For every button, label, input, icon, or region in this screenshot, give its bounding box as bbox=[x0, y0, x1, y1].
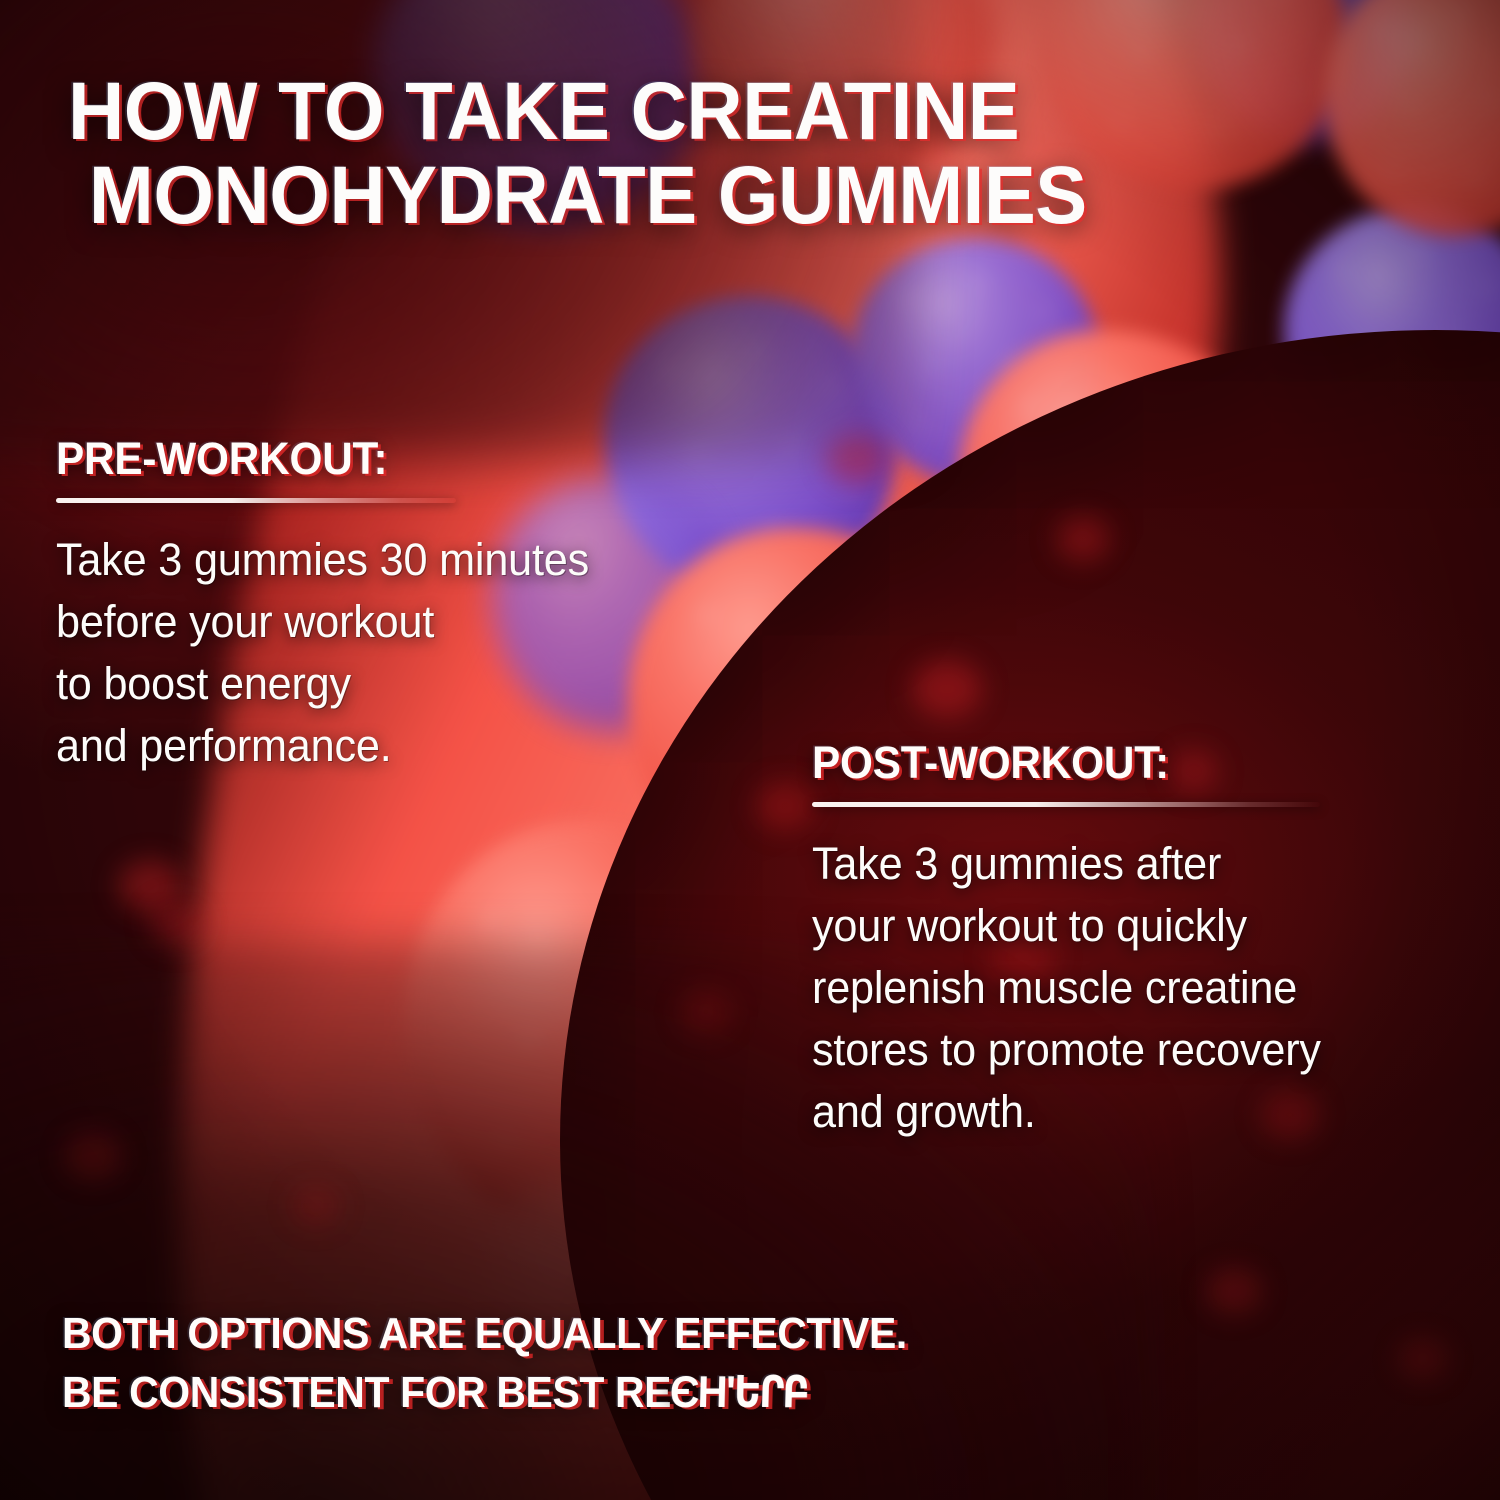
body-line: and performance. bbox=[56, 715, 766, 777]
footer-line-2: BE CONSISTENT FOR BEST REЄΗ'ԵՐԲ bbox=[62, 1364, 1327, 1423]
section-heading-pre-workout: PRE-WORKOUT: bbox=[56, 436, 752, 481]
footer-line-2-prefix: BE CONSISTENT FOR BEST RE bbox=[62, 1368, 671, 1417]
title-line-2: MONOHYDRATE GUMMIES bbox=[68, 154, 1303, 238]
title-line-1: HOW TO TAKE CREATINE bbox=[68, 66, 1019, 157]
section-body-pre-workout: Take 3 gummies 30 minutes before your wo… bbox=[56, 529, 766, 777]
body-line: Take 3 gummies 30 minutes bbox=[56, 529, 766, 591]
section-pre-workout: PRE-WORKOUT: Take 3 gummies 30 minutes b… bbox=[56, 436, 796, 777]
body-line: your workout to quickly bbox=[812, 895, 1446, 957]
page-title: HOW TO TAKE CREATINE MONOHYDRATE GUMMIES bbox=[68, 70, 1303, 237]
footer-callout: BOTH OPTIONS ARE EQUALLY EFFECTIVE. BE C… bbox=[62, 1305, 1327, 1423]
body-line: before your workout bbox=[56, 591, 766, 653]
section-post-workout: POST-WORKOUT: Take 3 gummies after your … bbox=[812, 740, 1472, 1143]
section-heading-post-workout: POST-WORKOUT: bbox=[812, 740, 1432, 785]
footer-line-1: BOTH OPTIONS ARE EQUALLY EFFECTIVE. bbox=[62, 1305, 1327, 1364]
body-line: and growth. bbox=[812, 1081, 1446, 1143]
body-line: Take 3 gummies after bbox=[812, 833, 1446, 895]
footer-glitch-artifact: ЄΗ'ԵՐԲ bbox=[669, 1364, 809, 1423]
body-line: replenish muscle creatine bbox=[812, 957, 1446, 1019]
body-line: stores to promote recovery bbox=[812, 1019, 1446, 1081]
section-divider-pre-workout bbox=[56, 498, 456, 503]
infographic-poster: HOW TO TAKE CREATINE MONOHYDRATE GUMMIES… bbox=[0, 0, 1500, 1500]
poster-content: HOW TO TAKE CREATINE MONOHYDRATE GUMMIES… bbox=[0, 0, 1500, 1500]
section-divider-post-workout bbox=[812, 802, 1320, 807]
section-body-post-workout: Take 3 gummies after your workout to qui… bbox=[812, 833, 1446, 1143]
body-line: to boost energy bbox=[56, 653, 766, 715]
